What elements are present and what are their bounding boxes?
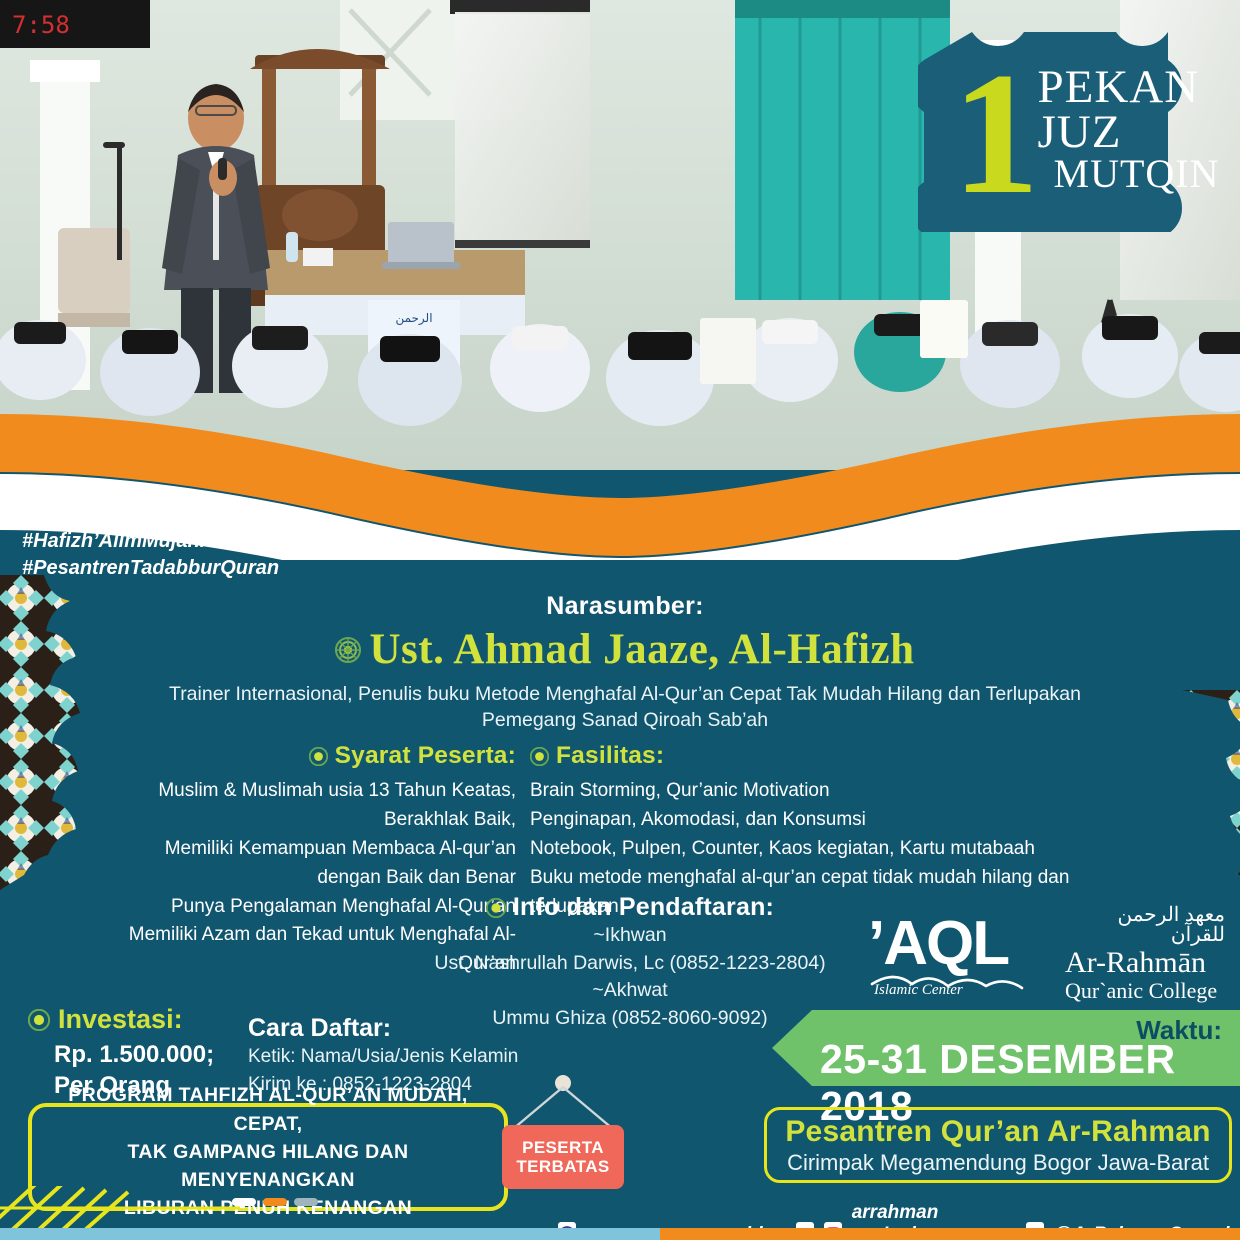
arrahman-name: Ar-Rahmān (1065, 947, 1225, 979)
how-to-register-line-1: Ketik: Nama/Usia/Jenis Kelamin (248, 1043, 538, 1071)
badge-line-1: PEKAN (1038, 65, 1220, 110)
investment-heading: Investasi: (58, 1004, 183, 1035)
venue-box: Pesantren Qur’an Ar-Rahman Cirimpak Mega… (764, 1107, 1232, 1183)
venue-subtitle: Cirimpak Megamendung Bogor Jawa-Barat (787, 1150, 1209, 1176)
investment-heading-row: Investasi: (28, 1004, 258, 1035)
registration-line: Ust. Nashrullah Darwis, Lc (0852-1223-28… (330, 950, 930, 978)
hashtag-1: #Hafizh’AlimMujahid (22, 528, 279, 555)
arrahman-logo: معهد الرحمن للقرآن Ar-Rahmān Qur`anic Co… (1065, 905, 1225, 1003)
program-line-1: PROGRAM TAHFIZH AL-QUR’AN MUDAH, CEPAT, (42, 1081, 494, 1138)
registration-line: ~Akhwat (330, 977, 930, 1005)
aql-logo: ’AQL Islamic Center (866, 906, 1051, 1003)
arrahman-arabic: معهد الرحمن للقرآن (1065, 905, 1225, 945)
dash-indicator (294, 1198, 318, 1206)
list-item: Penginapan, Akomodasi, dan Konsumsi (530, 806, 1140, 835)
badge-number: 1 (952, 65, 1034, 202)
rosette-icon (28, 1009, 50, 1031)
limited-seats-line-1: PESERTA (522, 1138, 604, 1157)
poster-root: 7:58 (0, 0, 1240, 1240)
list-item: Brain Storming, Qur’anic Motivation (530, 777, 1140, 806)
rosette-icon (486, 898, 506, 918)
svg-text:’AQL: ’AQL (868, 909, 1008, 978)
footer-bar-right (660, 1228, 1240, 1240)
svg-text:Islamic Center: Islamic Center (873, 982, 963, 998)
rosette-icon (309, 747, 328, 766)
badge-line-2: JUZ (1038, 110, 1220, 155)
limited-seats-tag: PESERTA TERBATAS (495, 1075, 645, 1200)
list-item: Muslim & Muslimah usia 13 Tahun Keatas, … (110, 777, 516, 835)
registration-info-heading: Info dan Pendaftaran: (513, 893, 774, 922)
requirements-heading-row: Syarat Peserta: (110, 742, 516, 770)
facilities-heading-row: Fasilitas: (530, 742, 1140, 770)
badge-1-pekan-juz-mutqin: 1 PEKAN JUZ MUTQIN (918, 22, 1222, 232)
registration-line: ~Ikhwan (330, 922, 930, 950)
requirements-heading: Syarat Peserta: (335, 742, 516, 770)
aql-logo-mark: ’AQL Islamic Center (866, 906, 1051, 998)
svg-text:7:58: 7:58 (12, 11, 70, 39)
list-item: Notebook, Pulpen, Counter, Kaos kegiatan… (530, 835, 1140, 864)
logos-block: ’AQL Islamic Center معهد الرحمن للقرآن A… (866, 905, 1226, 1003)
svg-text:الرحمن: الرحمن (395, 311, 432, 326)
speaker-bio-line-2: Pemegang Sanad Qiroah Sab’ah (120, 707, 1130, 733)
speaker-bio-line-1: Trainer Internasional, Penulis buku Meto… (120, 681, 1130, 707)
registration-info-heading-row: Info dan Pendaftaran: (330, 893, 930, 922)
badge-line-3: MUTQIN (1038, 155, 1220, 193)
facilities-heading: Fasilitas: (556, 742, 664, 770)
limited-seats-plate: PESERTA TERBATAS (502, 1125, 624, 1189)
footer-bar (0, 1228, 1240, 1240)
footer-bar-left (0, 1228, 660, 1240)
rosette-icon (530, 747, 549, 766)
how-to-register-heading: Cara Daftar: (248, 1014, 538, 1043)
venue-title: Pesantren Qur’an Ar-Rahman (785, 1115, 1210, 1149)
limited-seats-line-2: TERBATAS (516, 1157, 609, 1176)
speaker-name: Ust. Ahmad Jaaze, Al-Hafizh (369, 625, 914, 674)
hashtags: #Hafizh’AlimMujahid #PesantrenTadabburQu… (22, 528, 279, 582)
list-item: Memiliki Kemampuan Membaca Al-qur’an den… (110, 835, 516, 893)
speaker-block: Narasumber: Ust. Ahmad Jaaze, Al-Hafizh … (120, 592, 1130, 734)
arrahman-subtitle: Qur`anic College (1065, 979, 1225, 1003)
rosette-icon (335, 637, 361, 663)
investment-amount: Rp. 1.500.000; (54, 1039, 258, 1070)
schedule-banner: Waktu: 25-31 DESEMBER 2018 (772, 1010, 1240, 1086)
speaker-label: Narasumber: (120, 592, 1130, 621)
